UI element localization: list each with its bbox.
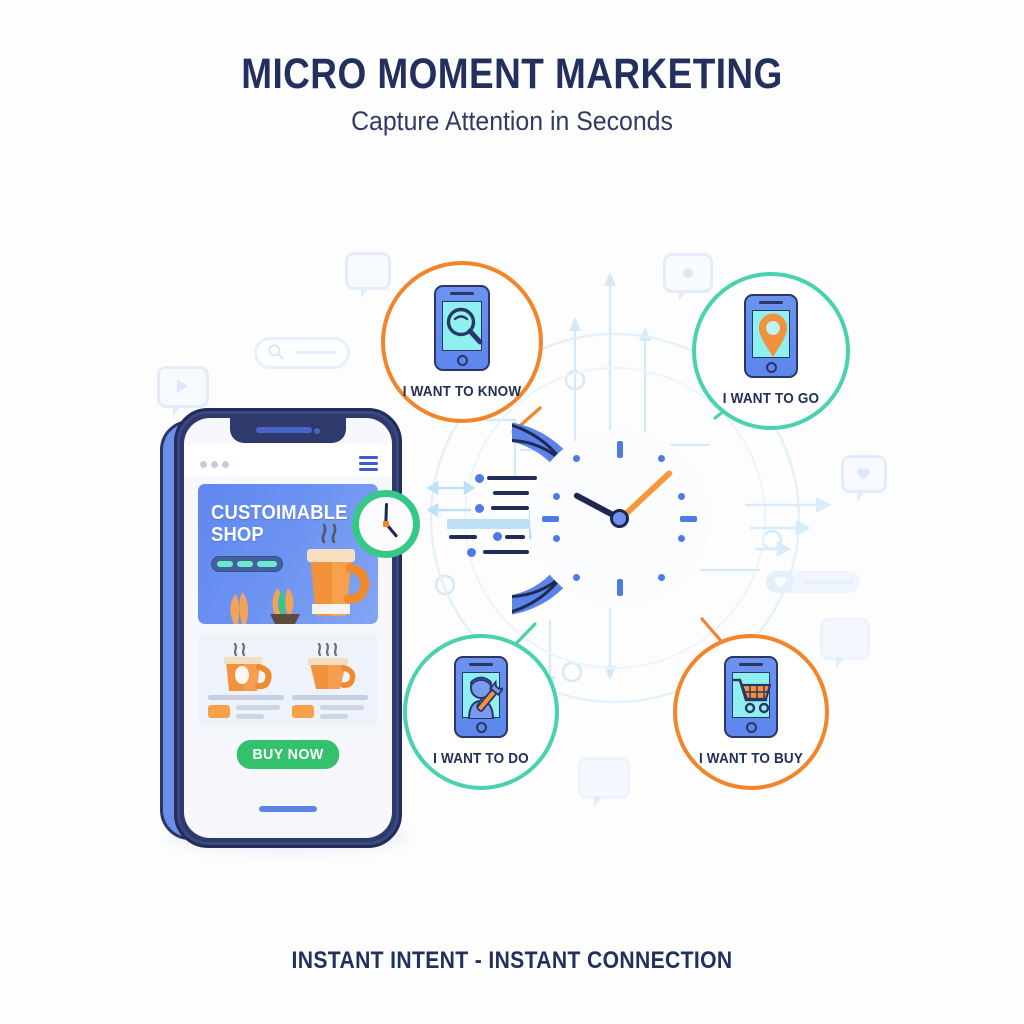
clock-tick [680,516,697,522]
magnifier-phone-icon [434,285,490,371]
buy-now-button[interactable]: BUY NOW [237,740,340,769]
front-camera-icon [314,428,320,434]
speaker-grill [256,427,312,433]
coffee-mug-icon [214,643,276,695]
price-tag [292,705,314,718]
price-tag [208,705,230,718]
small-clock-badge-icon [352,490,420,558]
clock-tick-dot [553,493,560,500]
phone-screen: CUSTOIMABLE SHOP [184,418,392,838]
three-dots-icon [200,461,207,468]
clock-tick-dot [658,574,665,581]
clock-tick-dot [573,574,580,581]
plant-icon [220,568,312,624]
node-go[interactable]: I WANT TO GO [692,272,850,430]
clock-tick-dot [678,493,685,500]
product-card-row [198,633,378,727]
node-buy[interactable]: I WANT TO BUY [673,634,829,790]
app-hero-banner: CUSTOIMABLE SHOP [198,484,378,624]
shopping-cart-phone-icon [724,656,778,738]
location-pin-icon [758,313,788,358]
worker-wrench-icon [463,673,503,719]
clock-tick [542,516,559,522]
clock-tick [617,441,623,458]
three-dots-icon [222,461,229,468]
location-pin-phone-icon [744,294,798,378]
shopping-cart-icon [733,677,773,715]
node-go-label: I WANT TO GO [704,390,839,407]
magnifier-icon [445,306,483,348]
footer-tagline: INSTANT INTENT - INSTANT CONNECTION [61,947,962,975]
three-dots-icon [211,461,218,468]
node-know[interactable]: I WANT TO KNOW [381,261,543,423]
node-do-label: I WANT TO DO [414,750,547,767]
node-know-label: I WANT TO KNOW [393,383,532,400]
analog-clock-icon [512,411,727,626]
hamburger-menu-icon[interactable] [359,456,378,470]
product-card[interactable] [206,643,288,717]
node-buy-label: I WANT TO BUY [684,750,817,767]
home-indicator [259,806,317,812]
clock-pivot [610,509,629,528]
phone-mockup: CUSTOIMABLE SHOP [160,408,405,856]
clock-tick-dot [658,455,665,462]
clock-tick-dot [573,455,580,462]
page-title: MICRO MOMENT MARKETING [72,50,953,99]
product-card[interactable] [290,643,372,717]
clock-tick-dot [553,535,560,542]
coffee-cup-icon [298,643,360,695]
node-do[interactable]: I WANT TO DO [403,634,559,790]
worker-wrench-phone-icon [454,656,508,738]
clock-tick [617,579,623,596]
clock-tick-dot [678,535,685,542]
page-subtitle: Capture Attention in Seconds [41,106,983,137]
infographic-canvas: CUSTOIMABLE SHOP [0,0,1024,1024]
